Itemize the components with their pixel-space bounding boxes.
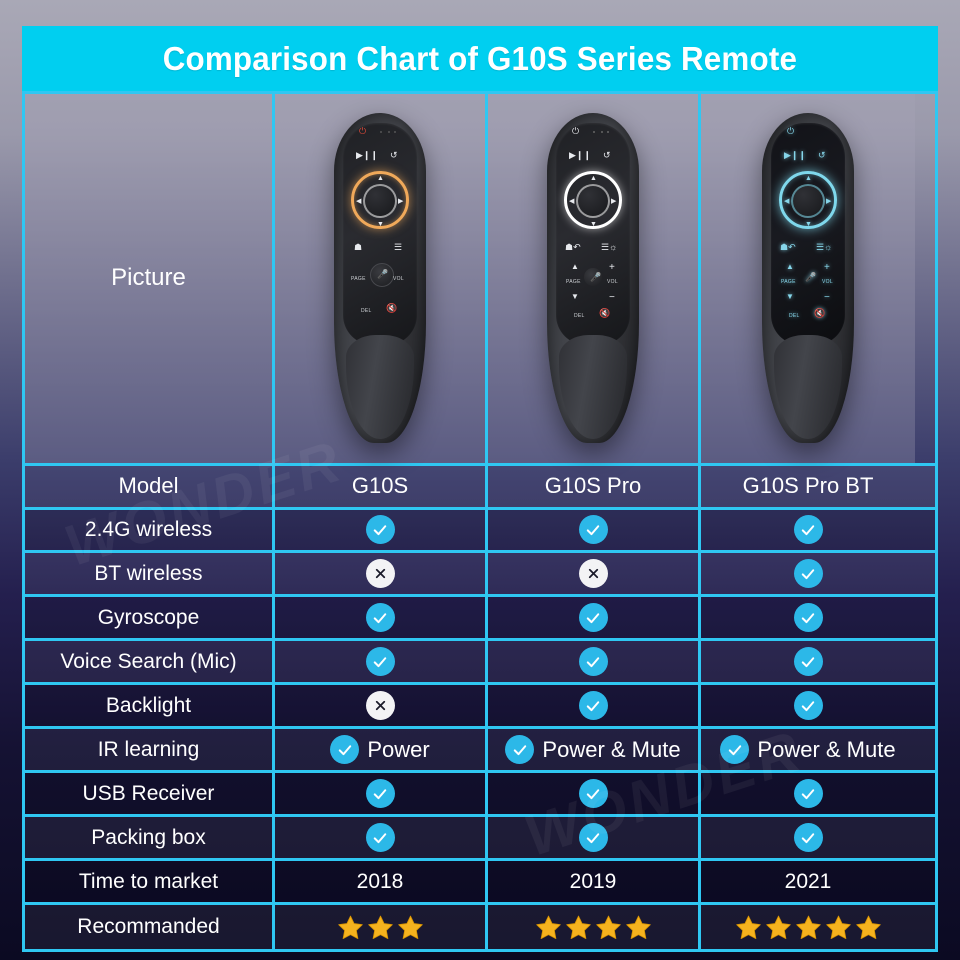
ir-learning-text: Power & Mute [757, 737, 895, 763]
cell-not-supported [275, 553, 488, 594]
star-icon [625, 914, 652, 941]
star-icon [735, 914, 762, 941]
cell-supported [701, 817, 915, 858]
cross-icon [366, 691, 395, 720]
table-row: 2.4G wireless [25, 510, 935, 554]
remote-image-g10s-pro-bt: ⏻ ▶❙❙ ↺ ▲ ▼ ◀ ▶ ☗↶ ☰☼ ▲ PAGE ▼ 🎤 + VOL −… [701, 94, 915, 463]
cell-supported [488, 641, 701, 682]
cell-text: G10S Pro [488, 466, 701, 507]
check-icon [794, 691, 823, 720]
table-row: Recommanded [25, 905, 935, 949]
remote-image-g10s: ⏻ ▶❙❙ ↺ ▲ ▼ ◀ ▶ ☗ ☰ PAGE 🎤 VOL DEL 🔇 [275, 94, 488, 463]
check-icon [794, 779, 823, 808]
cell-text: 2019 [488, 861, 701, 902]
check-icon [579, 823, 608, 852]
check-icon [794, 647, 823, 676]
star-icon [595, 914, 622, 941]
cell-rating [275, 905, 488, 949]
ir-learning-text: Power & Mute [542, 737, 680, 763]
table-row: BT wireless [25, 553, 935, 597]
cell-supported [701, 641, 915, 682]
page-title: Comparison Chart of G10S Series Remote [163, 40, 797, 78]
table-row: USB Receiver [25, 773, 935, 817]
cell-supported [275, 773, 488, 814]
star-icon [535, 914, 562, 941]
table-row: Gyroscope [25, 597, 935, 641]
cell-text: G10S Pro BT [701, 466, 915, 507]
star-icon [765, 914, 792, 941]
check-icon [720, 735, 749, 764]
cell-supported [488, 597, 701, 638]
cell-icon-text: Power [275, 729, 488, 770]
cell-rating [701, 905, 915, 949]
star-icon [397, 914, 424, 941]
check-icon [579, 647, 608, 676]
cell-supported [701, 510, 915, 551]
row-label: USB Receiver [25, 773, 275, 814]
check-icon [579, 779, 608, 808]
cell-supported [488, 817, 701, 858]
star-icon [795, 914, 822, 941]
row-label: Packing box [25, 817, 275, 858]
title-banner: Comparison Chart of G10S Series Remote [22, 26, 938, 91]
check-icon [794, 823, 823, 852]
table-row: Time to market201820192021 [25, 861, 935, 905]
star-icon [565, 914, 592, 941]
table-row: IR learningPowerPower & MutePower & Mute [25, 729, 935, 773]
row-label: Backlight [25, 685, 275, 726]
cell-supported [701, 685, 915, 726]
cross-icon [579, 559, 608, 588]
row-label: BT wireless [25, 553, 275, 594]
check-icon [366, 823, 395, 852]
cell-not-supported [488, 553, 701, 594]
table-row: Backlight [25, 685, 935, 729]
star-icon [825, 914, 852, 941]
star-icon [855, 914, 882, 941]
row-label: Voice Search (Mic) [25, 641, 275, 682]
row-label: 2.4G wireless [25, 510, 275, 551]
star-rating [735, 914, 882, 941]
cell-icon-text: Power & Mute [701, 729, 915, 770]
check-icon [505, 735, 534, 764]
cell-text: 2021 [701, 861, 915, 902]
check-icon [330, 735, 359, 764]
cell-supported [275, 817, 488, 858]
check-icon [794, 559, 823, 588]
check-icon [579, 691, 608, 720]
cell-supported [701, 773, 915, 814]
cell-supported [701, 553, 915, 594]
cell-supported [275, 510, 488, 551]
row-label: Gyroscope [25, 597, 275, 638]
check-icon [366, 647, 395, 676]
cell-text: 2018 [275, 861, 488, 902]
table-row: Voice Search (Mic) [25, 641, 935, 685]
cell-text: G10S [275, 466, 488, 507]
table-row: ModelG10SG10S ProG10S Pro BT [25, 466, 935, 510]
remote-illustration: ⏻ ▶❙❙ ↺ ▲ ▼ ◀ ▶ ☗ ☰ PAGE 🎤 VOL DEL 🔇 [334, 113, 426, 443]
cell-icon-text: Power & Mute [488, 729, 701, 770]
check-icon [366, 779, 395, 808]
row-label: IR learning [25, 729, 275, 770]
check-icon [579, 515, 608, 544]
star-rating [337, 914, 424, 941]
check-icon [366, 603, 395, 632]
table-row: Packing box [25, 817, 935, 861]
cell-supported [488, 510, 701, 551]
table-row-picture: Picture ⏻ ▶❙❙ ↺ ▲ ▼ ◀ ▶ ☗ ☰ PAGE 🎤 [25, 94, 935, 466]
comparison-table: Picture ⏻ ▶❙❙ ↺ ▲ ▼ ◀ ▶ ☗ ☰ PAGE 🎤 [22, 91, 938, 952]
cell-not-supported [275, 685, 488, 726]
star-rating [535, 914, 652, 941]
cell-supported [488, 685, 701, 726]
cell-supported [275, 597, 488, 638]
check-icon [794, 603, 823, 632]
star-icon [337, 914, 364, 941]
star-icon [367, 914, 394, 941]
remote-illustration: ⏻ ▶❙❙ ↺ ▲ ▼ ◀ ▶ ☗↶ ☰☼ ▲ PAGE ▼ 🎤 + VOL −… [762, 113, 854, 443]
cell-supported [701, 597, 915, 638]
check-icon [366, 515, 395, 544]
row-label: Recommanded [25, 905, 275, 949]
cell-supported [488, 773, 701, 814]
cell-supported [275, 641, 488, 682]
row-label-picture: Picture [25, 94, 275, 463]
row-label: Time to market [25, 861, 275, 902]
check-icon [794, 515, 823, 544]
row-label: Model [25, 466, 275, 507]
remote-illustration: ⏻ ▶❙❙ ↺ ▲ ▼ ◀ ▶ ☗↶ ☰☼ ▲ PAGE ▼ 🎤 + [547, 113, 639, 443]
check-icon [579, 603, 608, 632]
cell-rating [488, 905, 701, 949]
cross-icon [366, 559, 395, 588]
remote-image-g10s-pro: ⏻ ▶❙❙ ↺ ▲ ▼ ◀ ▶ ☗↶ ☰☼ ▲ PAGE ▼ 🎤 + [488, 94, 701, 463]
ir-learning-text: Power [367, 737, 429, 763]
